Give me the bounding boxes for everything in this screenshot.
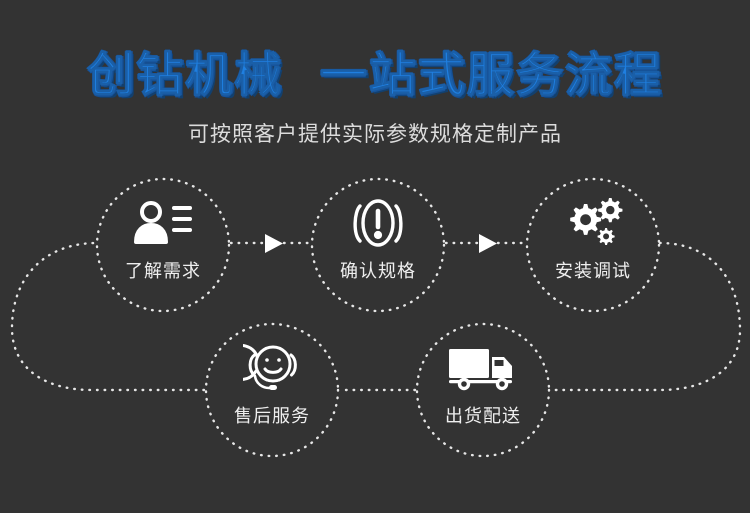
flow-step-3-label: 安装调试 [555,257,631,283]
arrow-head-2-3 [479,234,497,253]
delivery-truck-icon [447,342,519,394]
flow-step-1[interactable]: 了解需求 [97,179,229,311]
arrow-head-1-2 [265,234,283,253]
flow-step-5[interactable]: 售后服务 [206,324,338,456]
flow-step-4[interactable]: 出货配送 [417,324,549,456]
headset-smiley-icon [243,342,301,394]
gears-icon [562,197,624,249]
flow-step-4-label: 出货配送 [445,402,521,428]
user-profile-icon [134,197,192,249]
exclamation-alert-icon [350,197,406,249]
flow-step-5-label: 售后服务 [234,402,310,428]
flow-step-1-label: 了解需求 [125,257,201,283]
flowchart-poster: 创钻机械 一站式服务流程 可按照客户提供实际参数规格定制产品 [0,0,750,513]
flow-step-2[interactable]: 确认规格 [312,179,444,311]
flow-step-3[interactable]: 安装调试 [527,179,659,311]
flow-step-2-label: 确认规格 [340,257,416,283]
